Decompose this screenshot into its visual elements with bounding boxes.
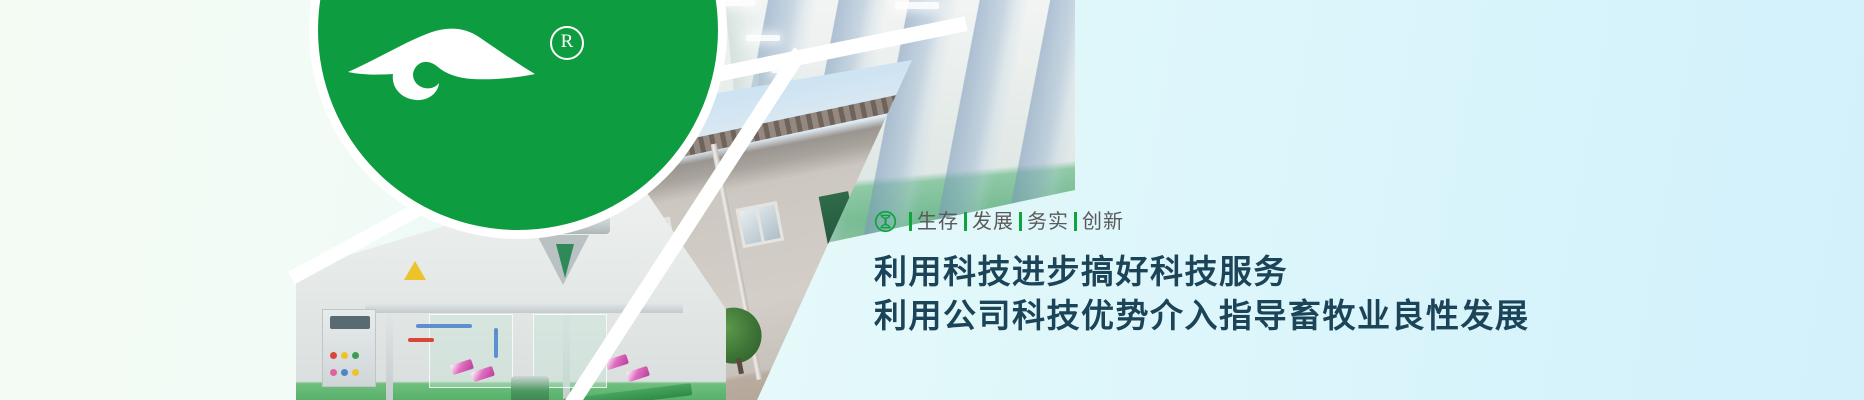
panel-screen <box>330 316 370 329</box>
warning-sign-icon <box>404 261 426 280</box>
air-tube <box>416 324 472 328</box>
slogan-part-3: 务实 <box>1027 211 1069 231</box>
machine-funnel-insert <box>556 244 574 278</box>
building-window <box>735 201 784 248</box>
panel-knobs[interactable] <box>330 369 359 376</box>
slogan-separator <box>1074 212 1077 231</box>
slogan-text: 生存 发展 务实 创新 <box>904 211 1124 231</box>
slogan-separator <box>1019 212 1022 231</box>
slogan-separator <box>964 212 967 231</box>
ceiling-light-icon <box>746 35 780 41</box>
wave-bird-logo-icon <box>346 24 536 102</box>
hero-banner: R 生存 发展 务实 创新 利用科技进步搞好科技服务 利用公司科技 <box>0 0 1864 400</box>
machine-leg <box>386 314 393 400</box>
collection-drum <box>511 376 549 400</box>
air-tube <box>494 328 498 358</box>
ceiling-light-icon <box>895 2 939 9</box>
registered-trademark-icon: R <box>550 26 584 60</box>
slogan-part-1: 生存 <box>917 211 959 231</box>
slogan-separator <box>909 212 912 231</box>
banner-text-block: 生存 发展 务实 创新 利用科技进步搞好科技服务 利用公司科技优势介入指导畜牧业… <box>874 206 1734 337</box>
headline-line-1: 利用科技进步搞好科技服务 <box>874 250 1734 294</box>
slogan-row: 生存 发展 务实 创新 <box>874 206 1734 236</box>
brand-logo-circle[interactable]: R <box>318 0 718 230</box>
brand-logo-inner: R <box>318 0 718 230</box>
headline-line-2: 利用公司科技优势介入指导畜牧业良性发展 <box>874 294 1734 338</box>
air-tube <box>408 338 434 342</box>
green-circle-figure-icon <box>874 210 897 233</box>
slogan-part-2: 发展 <box>972 211 1014 231</box>
slogan-part-4: 创新 <box>1082 211 1124 231</box>
panel-knobs[interactable] <box>330 352 359 359</box>
